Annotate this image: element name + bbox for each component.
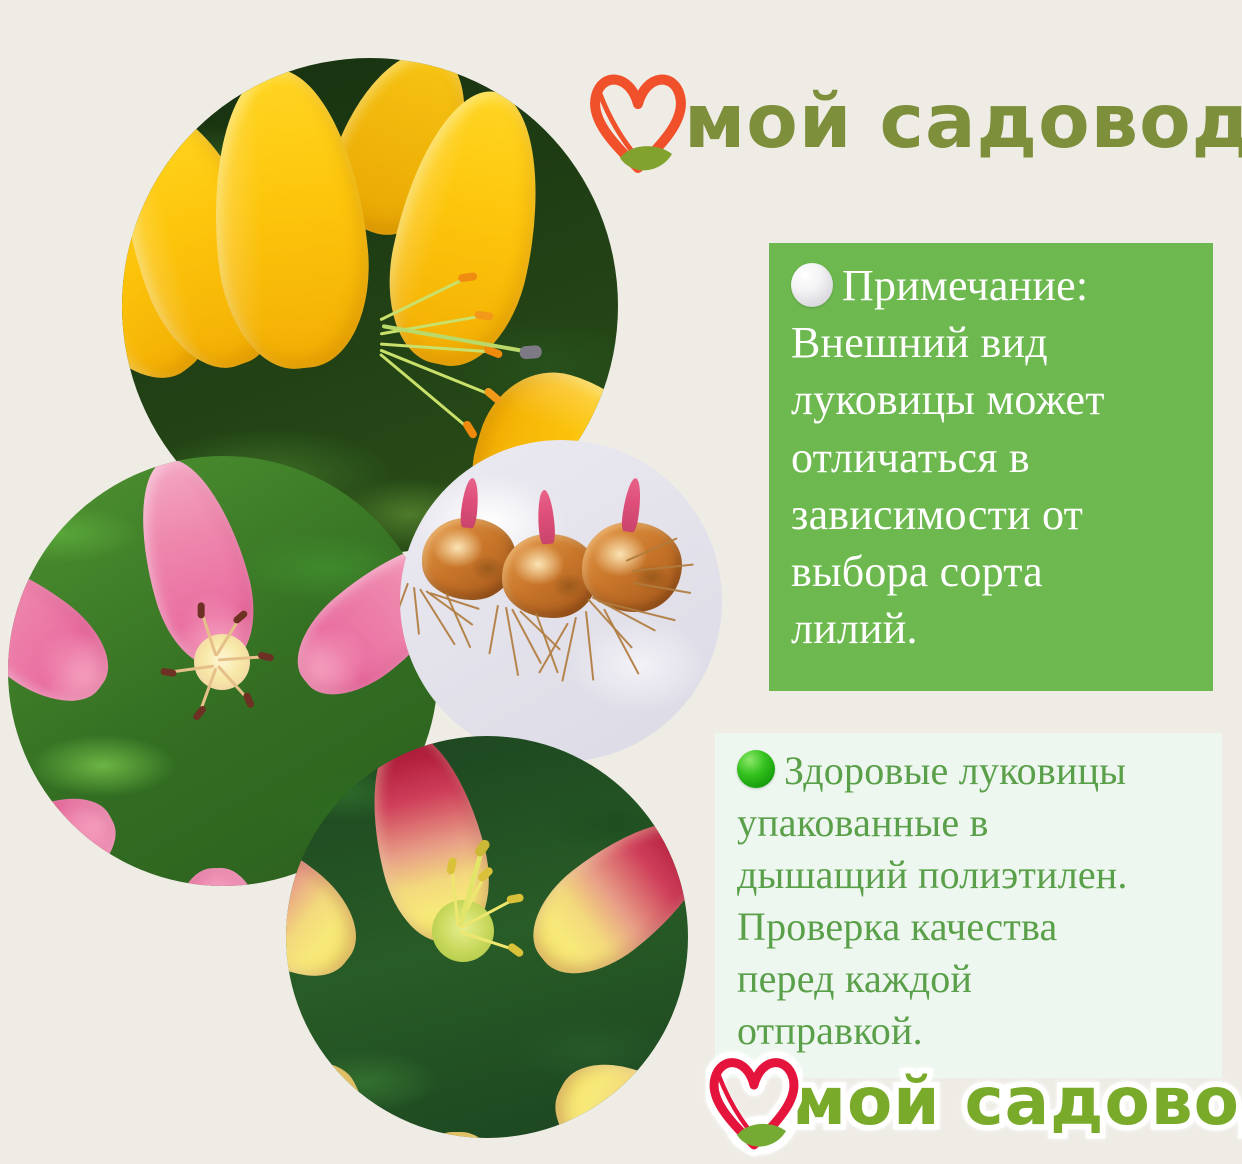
panel-note-line-3: отличаться в	[791, 433, 1030, 482]
panel-quality-line-0: Здоровые луковицы	[784, 748, 1126, 793]
brand-logo-top[interactable]: мой садовод	[586, 56, 1226, 186]
green-circle-bullet-icon	[737, 750, 775, 788]
panel-quality: Здоровые луковицы упакованные в дышащий …	[715, 733, 1222, 1078]
photo-lily-bulbs	[400, 440, 722, 762]
panel-note-line-6: лилий.	[791, 604, 918, 653]
panel-quality-line-3: Проверка качества	[737, 904, 1057, 949]
panel-note-line-4: зависимости от	[791, 490, 1083, 539]
panel-note-line-2: луковицы может	[791, 375, 1105, 424]
logo-wordmark-top: мой садовод	[684, 77, 1242, 165]
panel-quality-text: Здоровые луковицы упакованные в дышащий …	[715, 733, 1222, 1067]
photo-bicolor-lily	[286, 736, 688, 1138]
panel-quality-line-4: перед каждой	[737, 956, 972, 1001]
petal	[199, 62, 380, 376]
panel-quality-line-1: упакованные в	[737, 800, 989, 845]
panel-note-line-5: выбора сорта	[791, 547, 1043, 596]
brand-logo-bottom[interactable]: мой садовод	[706, 1042, 1226, 1160]
panel-note-line-1: Внешний вид	[791, 318, 1048, 367]
root-cluster	[400, 440, 722, 762]
petal	[404, 1132, 510, 1138]
poster-canvas: мой садовод Примечание: Внешний вид луко…	[0, 0, 1242, 1164]
petal	[168, 866, 271, 886]
panel-quality-line-2: дышащий полиэтилен.	[737, 852, 1128, 897]
silver-circle-bullet-icon	[791, 263, 833, 307]
logo-mark-bottom	[706, 1043, 802, 1159]
panel-note-line-0: Примечание:	[842, 261, 1088, 310]
logo-mark-top	[586, 58, 690, 184]
logo-wordmark-bottom: мой садовод	[792, 1063, 1242, 1140]
panel-note-text: Примечание: Внешний вид луковицы может о…	[769, 243, 1213, 667]
panel-note: Примечание: Внешний вид луковицы может о…	[769, 243, 1213, 691]
